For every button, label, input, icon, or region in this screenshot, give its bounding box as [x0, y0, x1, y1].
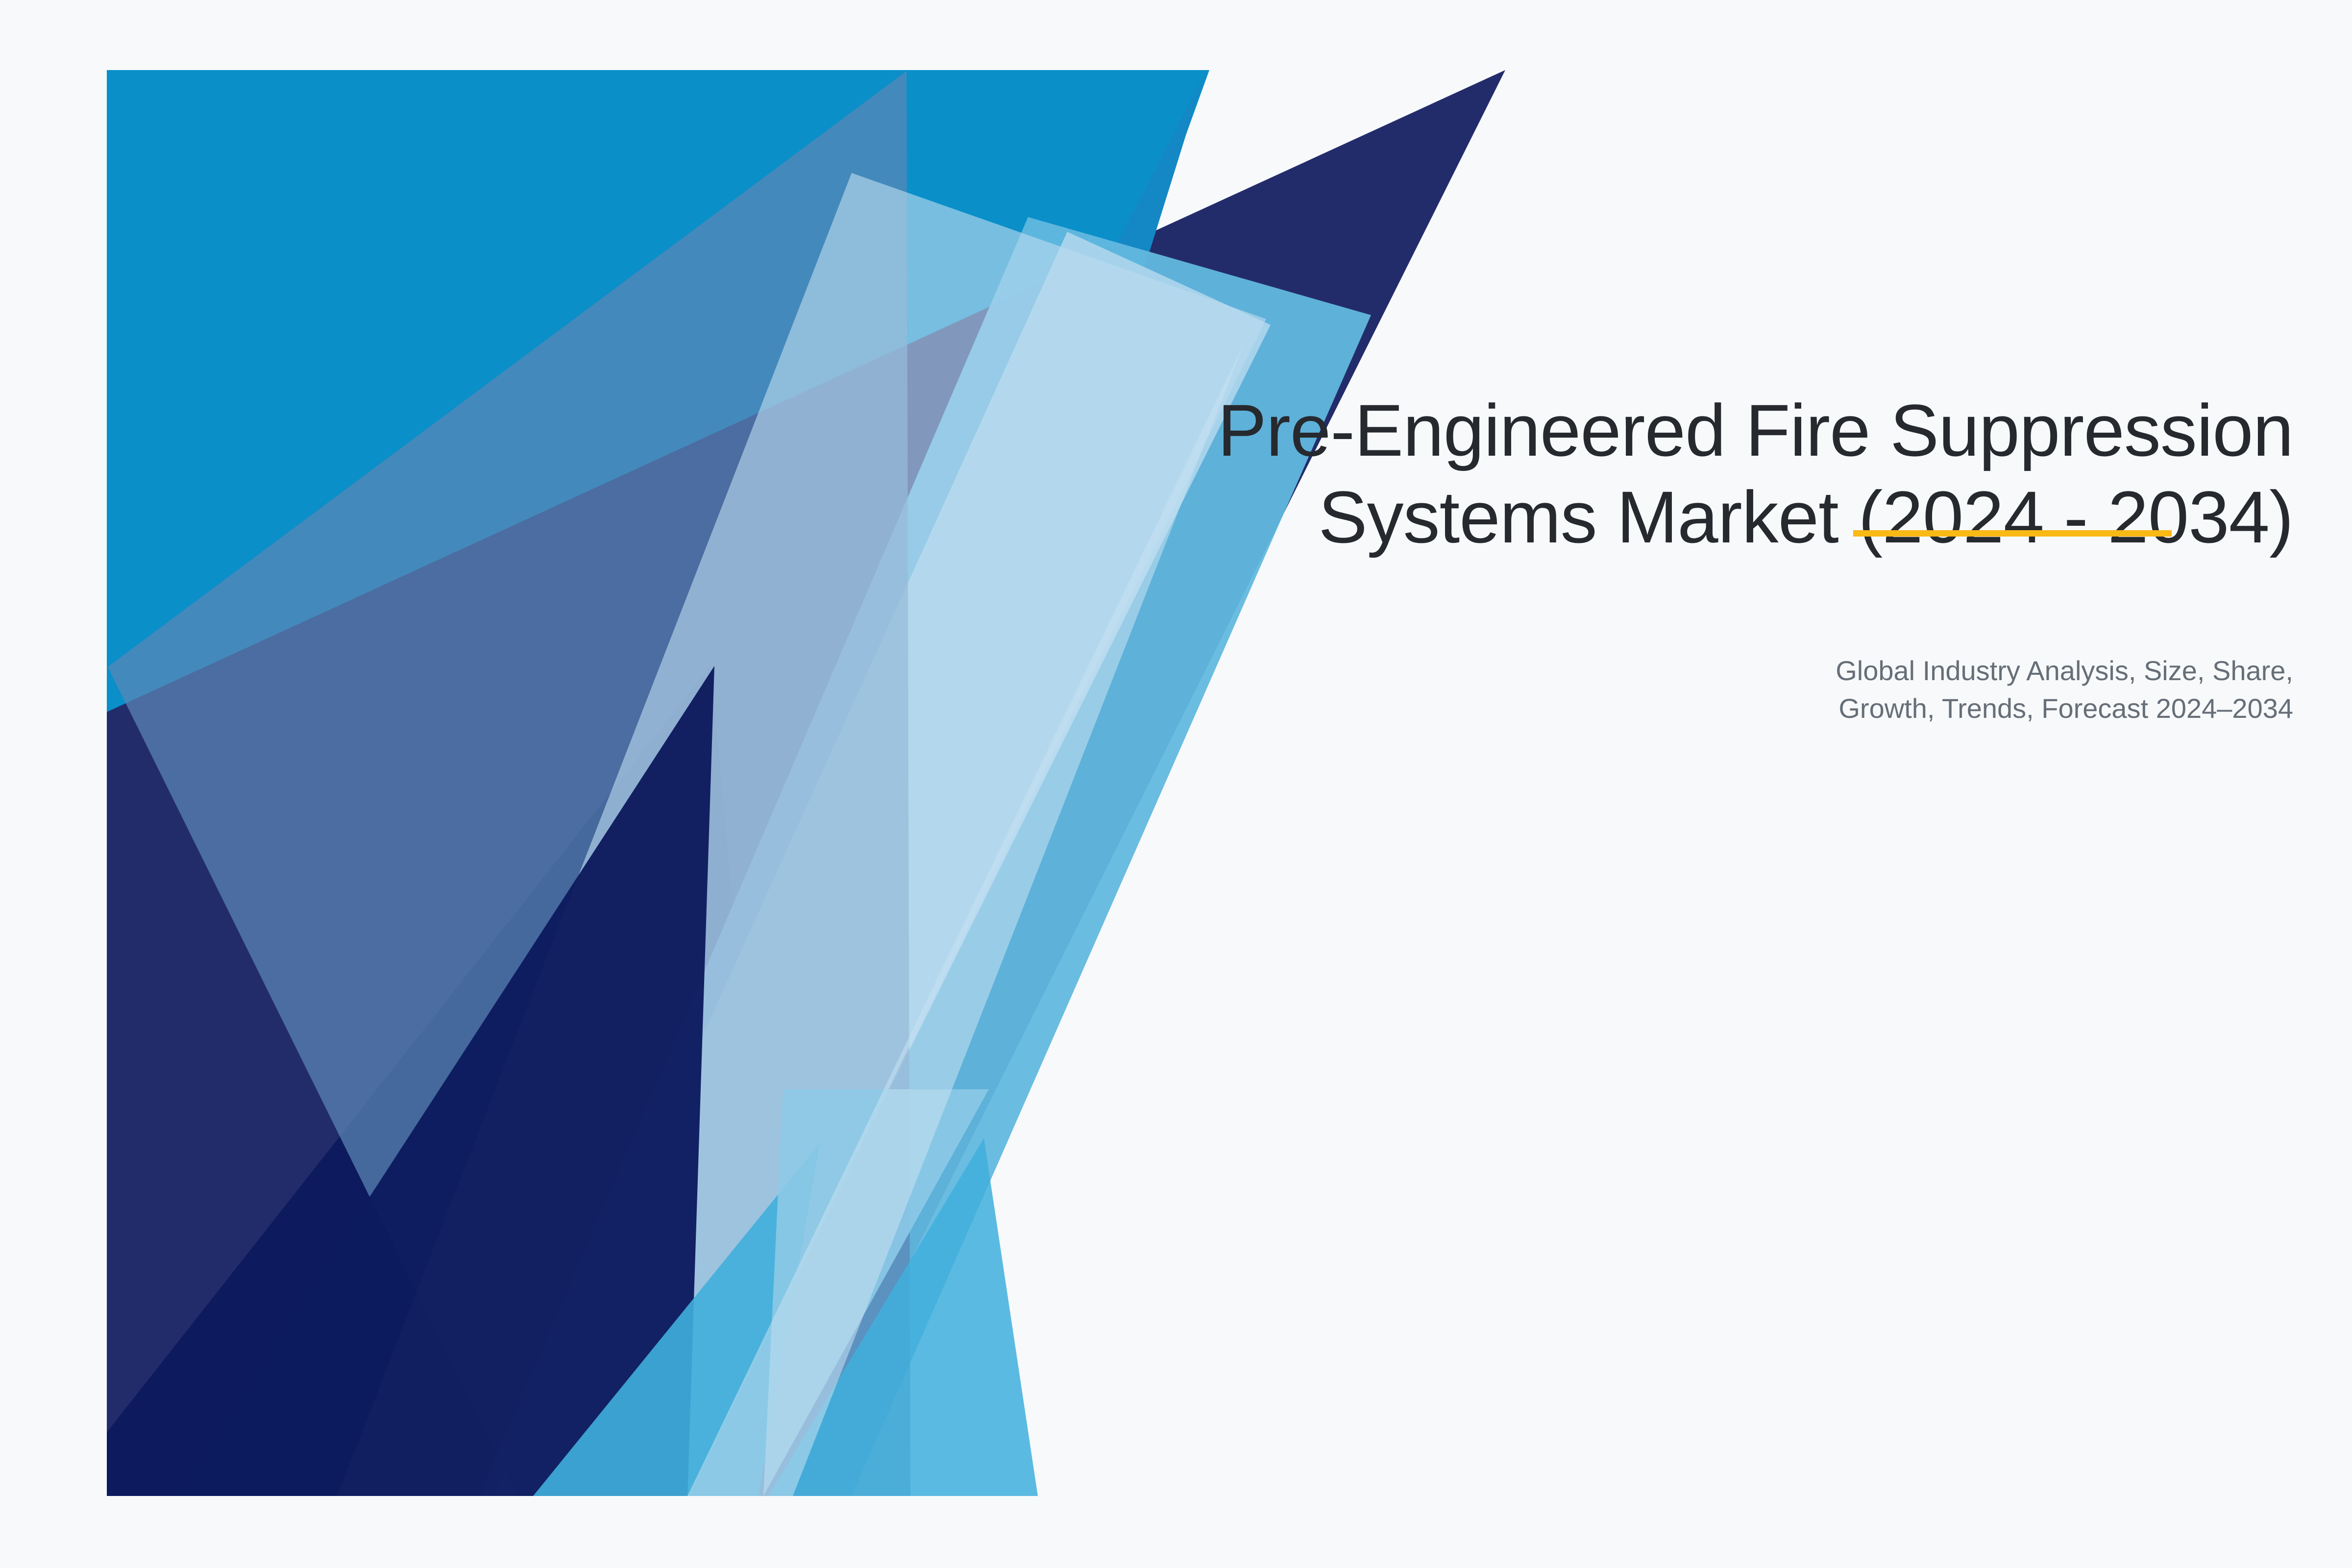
- abstract-geometric-polygons-svg: [107, 70, 1508, 1496]
- report-cover-slide: Pre-Engineered Fire Suppression Systems …: [0, 0, 2352, 1568]
- title-accent-underline: [1853, 530, 2172, 537]
- page-subtitle: Global Industry Analysis, Size, Share, G…: [1029, 652, 2293, 728]
- cover-graphic: [107, 70, 1508, 1496]
